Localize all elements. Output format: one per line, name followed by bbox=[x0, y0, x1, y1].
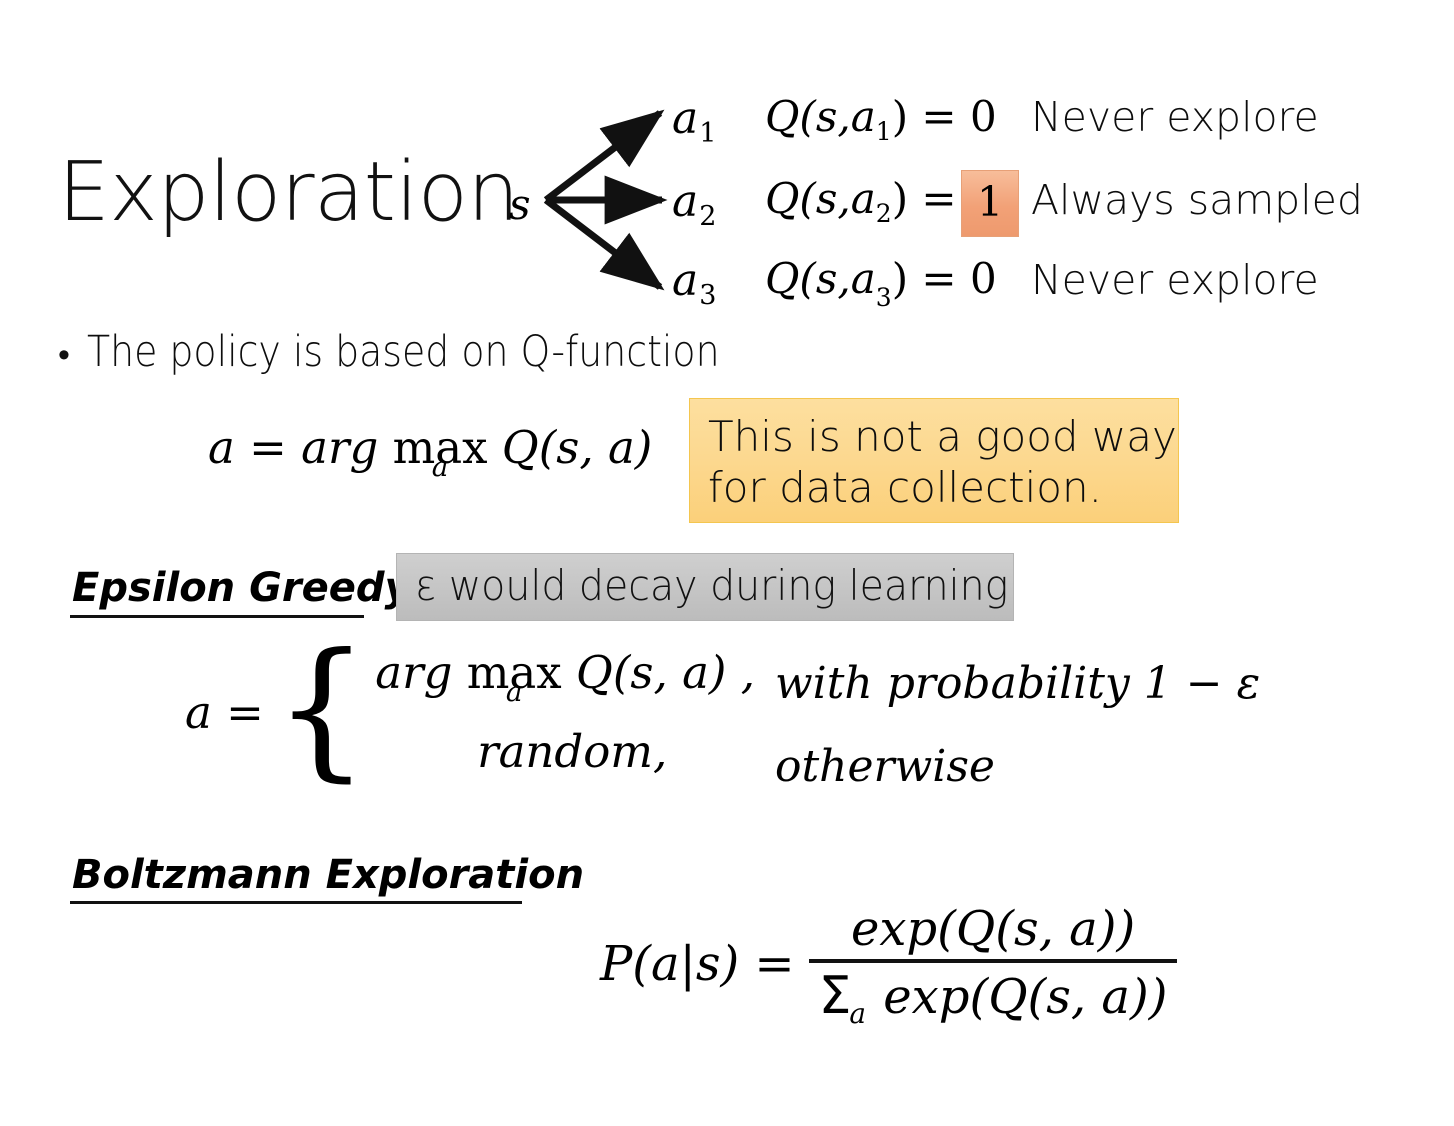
action-label-a3: a3 bbox=[672, 259, 715, 303]
action-label-a2-base: a bbox=[672, 176, 698, 227]
action-label-a2-subscript: 2 bbox=[699, 201, 716, 232]
action-label-a1-base: a bbox=[672, 93, 698, 144]
q-equation-a1-subscript: 1 bbox=[876, 117, 892, 146]
highlighted-q-value-box: 1 bbox=[961, 170, 1019, 237]
boltzmann-formula-denominator-body: exp(Q(s, a)) bbox=[868, 969, 1167, 1025]
q-equation-a2-close: ) = bbox=[892, 174, 957, 223]
action-label-a1: a1 bbox=[672, 97, 715, 141]
action-label-a3-subscript: 3 bbox=[699, 280, 716, 311]
q-equation-a2-prefix: Q(s, bbox=[765, 174, 851, 223]
page-title: Exploration bbox=[58, 152, 519, 234]
state-node-label: s bbox=[509, 180, 531, 229]
greedy-formula-rhs: Q(s, a) bbox=[488, 421, 653, 474]
action-label-a1-subscript: 1 bbox=[699, 118, 716, 149]
section-heading-epsilon-greedy-underline bbox=[70, 615, 364, 618]
boltzmann-formula-denominator: Σa exp(Q(s, a)) bbox=[809, 963, 1178, 1023]
epsilon-formula-lhs: a = bbox=[185, 690, 264, 735]
epsilon-formula-case1-rhs: Q(s, a) , bbox=[562, 646, 755, 699]
q-equation-a1-close: ) = bbox=[892, 92, 970, 141]
epsilon-formula-condition-2: otherwise bbox=[775, 745, 995, 789]
epsilon-formula-cases: arg maxa Q(s, a) , random, bbox=[375, 650, 755, 774]
epsilon-decay-note-box: ε would decay during learning bbox=[396, 553, 1014, 621]
epsilon-formula-case-2: random, bbox=[375, 729, 755, 774]
q-equation-a2-action: a bbox=[851, 174, 876, 223]
q-equation-a1-prefix: Q(s, bbox=[765, 92, 851, 141]
q-equation-a3-action: a bbox=[851, 254, 876, 303]
action-label-a2: a2 bbox=[672, 180, 715, 224]
q-equation-a1: Q(s,a1) = 0 bbox=[765, 96, 997, 138]
epsilon-formula-case1-argmax: maxa bbox=[467, 650, 562, 695]
slide-canvas: Exploration s a1 a2 a3 Q(s,a1) = 0 Q(s,a… bbox=[0, 0, 1454, 1126]
branch-note-a2: Always sampled bbox=[1031, 180, 1363, 221]
q-equation-a2-subscript: 2 bbox=[876, 199, 892, 228]
epsilon-formula-condition-1: with probability 1 − ε bbox=[775, 662, 1260, 706]
q-equation-a1-value: 0 bbox=[970, 92, 997, 141]
callout-line-2: for data collection. bbox=[708, 462, 1178, 513]
boltzmann-formula-sigma-subscript: a bbox=[849, 997, 866, 1030]
epsilon-formula-brace: { bbox=[274, 651, 369, 768]
q-equation-a3: Q(s,a3) = 0 bbox=[765, 258, 997, 300]
q-equation-a3-subscript: 3 bbox=[876, 283, 892, 312]
callout-box: This is not a good way for data collecti… bbox=[689, 398, 1179, 523]
q-equation-a3-close: ) = bbox=[892, 254, 970, 303]
epsilon-formula-case1-arg: arg bbox=[375, 646, 466, 699]
boltzmann-formula-fraction: exp(Q(s, a)) Σa exp(Q(s, a)) bbox=[809, 905, 1178, 1023]
epsilon-greedy-formula: a = { arg maxa Q(s, a) , random, bbox=[185, 650, 755, 774]
bullet-item-label: The policy is based on Q-function bbox=[87, 331, 720, 374]
greedy-formula-max-subscript: a bbox=[393, 453, 488, 481]
highlighted-q-value: 1 bbox=[962, 178, 1018, 226]
section-heading-boltzmann: Boltzmann Exploration bbox=[72, 855, 584, 895]
greedy-formula-argmax: maxa bbox=[393, 425, 488, 470]
boltzmann-formula-numerator: exp(Q(s, a)) bbox=[841, 905, 1145, 959]
bullet-item: • The policy is based on Q-function bbox=[58, 331, 806, 374]
epsilon-formula-case1-max-subscript: a bbox=[467, 678, 562, 706]
boltzmann-formula: P(a|s) = exp(Q(s, a)) Σa exp(Q(s, a)) bbox=[600, 905, 1177, 1023]
q-equation-a3-value: 0 bbox=[970, 254, 997, 303]
action-label-a3-base: a bbox=[672, 255, 698, 306]
greedy-formula-lhs: a = bbox=[208, 421, 301, 474]
section-heading-epsilon-greedy: Epsilon Greedy bbox=[72, 568, 411, 608]
callout-line-1: This is not a good way bbox=[708, 411, 1178, 462]
q-equation-a3-prefix: Q(s, bbox=[765, 254, 851, 303]
epsilon-formula-case-1: arg maxa Q(s, a) , bbox=[375, 650, 755, 695]
bullet-marker-icon: • bbox=[58, 338, 70, 372]
epsilon-decay-note-text: ε would decay during learning bbox=[415, 563, 1008, 608]
branch-note-a3: Never explore bbox=[1031, 260, 1319, 301]
section-heading-boltzmann-underline bbox=[70, 901, 522, 904]
q-equation-a2: Q(s,a2) = bbox=[765, 178, 957, 220]
q-equation-a1-action: a bbox=[851, 92, 876, 141]
branch-note-a1: Never explore bbox=[1031, 97, 1319, 138]
boltzmann-formula-sigma-icon: Σ bbox=[819, 966, 852, 1026]
greedy-formula-arg: arg bbox=[301, 421, 392, 474]
boltzmann-formula-lhs: P(a|s) = bbox=[600, 940, 795, 988]
greedy-policy-formula: a = arg maxa Q(s, a) bbox=[208, 425, 652, 470]
